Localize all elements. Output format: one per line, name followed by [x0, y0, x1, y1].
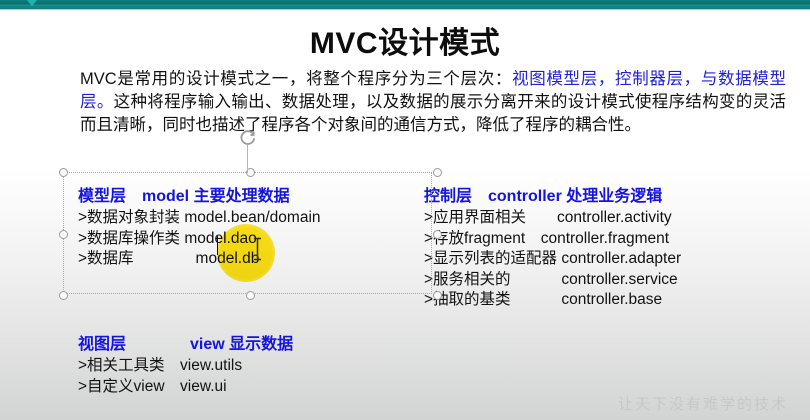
block-view-layer[interactable]: 视图层 view 显示数据 >相关工具类 view.utils >自定义view…	[78, 330, 293, 397]
block-controller-line: >应用界面相关 controller.activity	[424, 208, 681, 229]
resize-handle-bottom-center-icon[interactable]	[246, 291, 255, 300]
paragraph-segment-3: 这种将程序输入输出、数据处理，以及数据的展示分离开来的设计模式使程序结构变的灵活…	[80, 93, 786, 134]
block-model-layer[interactable]: 模型层 model 主要处理数据 >数据对象封装 model.bean/doma…	[78, 182, 321, 270]
block-view-line: >自定义view view.ui	[78, 377, 293, 398]
cursor-highlight-spotlight	[217, 224, 275, 282]
intro-paragraph: MVC是常用的设计模式之一，将整个程序分为三个层次：视图模型层，控制器层，与数据…	[80, 68, 786, 137]
rotate-handle-icon[interactable]	[239, 129, 257, 147]
block-view-heading: 视图层 view 显示数据	[78, 330, 293, 354]
block-view-line: >相关工具类 view.utils	[78, 356, 293, 377]
page-title: MVC设计模式	[0, 18, 810, 62]
resize-handle-top-right-icon[interactable]	[433, 168, 442, 177]
block-model-line: >数据对象封装 model.bean/domain	[78, 208, 321, 229]
resize-handle-bottom-left-icon[interactable]	[59, 291, 68, 300]
resize-handle-middle-left-icon[interactable]	[59, 230, 68, 239]
block-controller-line: >服务相关的 controller.service	[424, 270, 681, 291]
block-controller-heading: 控制层 controller 处理业务逻辑	[424, 182, 681, 206]
text-insertion-caret	[217, 236, 218, 255]
text-ibeam-cursor-icon	[252, 236, 263, 262]
resize-handle-top-left-icon[interactable]	[59, 168, 68, 177]
block-controller-line: >显示列表的适配器 controller.adapter	[424, 249, 681, 270]
block-controller-layer[interactable]: 控制层 controller 处理业务逻辑 >应用界面相关 controller…	[424, 182, 681, 311]
rotate-handle-stem	[247, 145, 248, 173]
block-model-line: >数据库操作类 model.dao	[78, 229, 321, 250]
block-controller-line: >抽取的基类 controller.base	[424, 290, 681, 311]
chevron-down-icon[interactable]	[26, 0, 38, 6]
top-ribbon-bar	[0, 0, 810, 10]
block-model-line: >数据库 model.db	[78, 249, 321, 270]
block-controller-line: >存放fragment controller.fragment	[424, 229, 681, 250]
block-model-heading: 模型层 model 主要处理数据	[78, 182, 321, 206]
paragraph-segment-1: MVC是常用的设计模式之一，将整个程序分为三个层次：	[80, 70, 512, 88]
watermark-text: 让天下没有难学的技术	[618, 393, 788, 414]
slide-canvas: MVC设计模式 MVC是常用的设计模式之一，将整个程序分为三个层次：视图模型层，…	[0, 0, 810, 420]
